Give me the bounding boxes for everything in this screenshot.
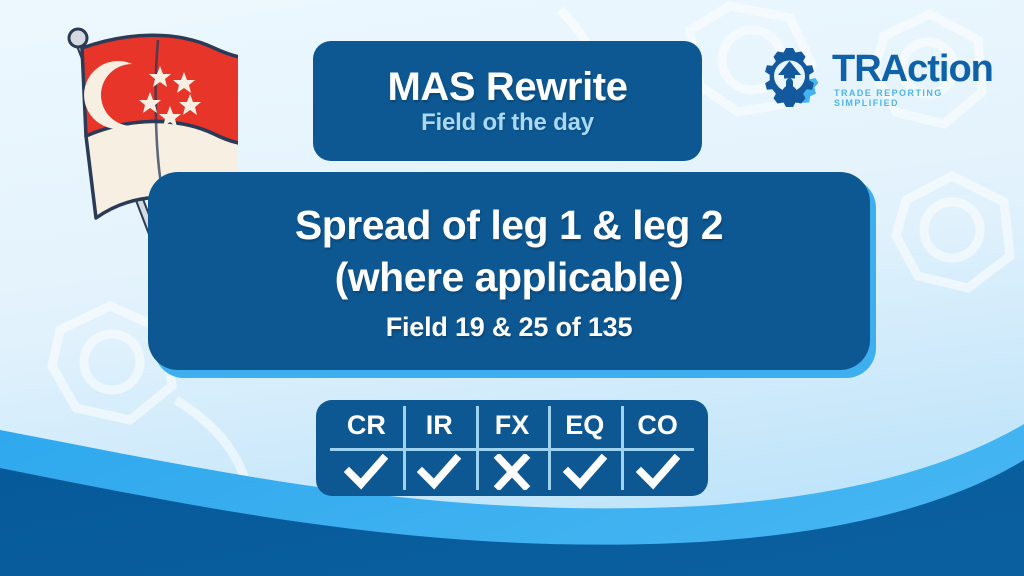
logo-tagline: TRADE REPORTING SIMPLIFIED — [834, 88, 1002, 108]
header-panel: MAS Rewrite Field of the day — [313, 41, 702, 161]
asset-mark-co — [621, 449, 694, 495]
asset-class-table: CR IR FX EQ — [316, 400, 708, 496]
check-icon — [344, 454, 388, 490]
check-icon — [417, 454, 461, 490]
asset-code-co: CO — [637, 401, 678, 449]
asset-column-eq: EQ — [548, 400, 621, 496]
field-title-line2: (where applicable) — [335, 254, 684, 300]
asset-code-fx: FX — [495, 401, 530, 449]
asset-column-fx: FX — [476, 400, 549, 496]
asset-mark-ir — [403, 449, 476, 495]
asset-column-co: CO — [621, 400, 694, 496]
asset-mark-eq — [548, 449, 621, 495]
cross-icon — [492, 454, 532, 490]
check-icon — [563, 454, 607, 490]
logo-wordmark: TRAction — [832, 50, 993, 88]
field-title-line1: Spread of leg 1 & leg 2 — [295, 202, 723, 248]
slide-canvas: MAS Rewrite Field of the day TRAction T — [0, 0, 1024, 576]
asset-column-ir: IR — [403, 400, 476, 496]
gear-logo-icon — [760, 48, 826, 110]
check-icon — [636, 454, 680, 490]
page-subtitle: Field of the day — [421, 110, 594, 136]
field-panel-wrapper: Spread of leg 1 & leg 2 (where applicabl… — [148, 172, 876, 378]
field-panel: Spread of leg 1 & leg 2 (where applicabl… — [148, 172, 870, 370]
asset-code-cr: CR — [347, 401, 386, 449]
field-number: Field 19 & 25 of 135 — [386, 312, 633, 343]
traction-logo: TRAction TRADE REPORTING SIMPLIFIED — [760, 48, 1002, 110]
asset-mark-fx — [476, 449, 549, 495]
asset-mark-cr — [330, 449, 403, 495]
field-title: Spread of leg 1 & leg 2 (where applicabl… — [295, 199, 723, 304]
asset-code-eq: EQ — [565, 401, 604, 449]
asset-column-cr: CR — [330, 400, 403, 496]
page-title: MAS Rewrite — [387, 66, 627, 108]
asset-code-ir: IR — [426, 401, 453, 449]
